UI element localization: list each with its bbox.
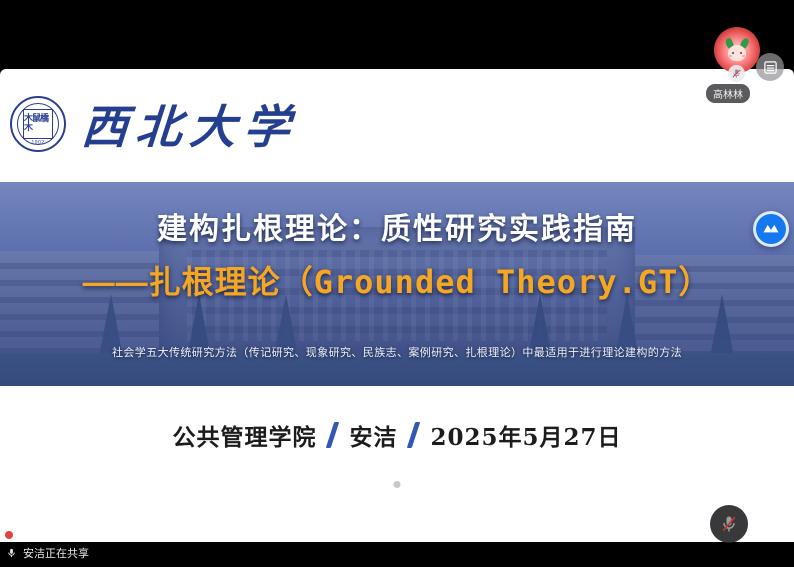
presenter-department: 公共管理学院 <box>172 418 316 452</box>
share-status-text: 安洁正在共享 <box>23 545 89 561</box>
presenter-date: 2025年5月27日 <box>430 418 621 452</box>
mic-toggle-button[interactable] <box>710 505 748 543</box>
mic-icon <box>6 547 17 559</box>
presenter-line: 公共管理学院 安洁 2025年5月27日 <box>0 418 794 452</box>
university-seal-icon: 木鼠橋木 1902 <box>10 96 66 152</box>
university-seal-year: 1902 <box>12 140 64 146</box>
slide-banner: 建构扎根理论：质性研究实践指南 ——扎根理论（Grounded Theory.G… <box>0 182 794 386</box>
university-branding: 木鼠橋木 1902 西北大学 <box>10 91 298 157</box>
university-name: 西北大学 <box>80 91 301 157</box>
bunny-eye-icon <box>732 52 734 54</box>
presenter-separator-icon <box>326 422 339 448</box>
recording-dot-icon <box>5 531 13 539</box>
bunny-eye-icon <box>740 52 742 54</box>
bunny-head-icon <box>728 45 746 61</box>
slide-subtitle: 社会学五大传统研究方法（传记研究、现象研究、民族志、案例研究、扎根理论）中最适用… <box>0 344 794 360</box>
university-seal-inner-text: 木鼠橋木 <box>23 109 53 139</box>
slide-title-line2-en: （Grounded Theory.GT） <box>281 263 712 301</box>
mic-muted-icon <box>719 514 739 534</box>
bunny-cheek-icon <box>729 55 732 57</box>
meeting-screen-share-view: 木鼠橋木 1902 西北大学 建构扎根理论：质性研究实践指南 ——扎根理论（Gr… <box>0 0 794 567</box>
slide-title-line1: 建构扎根理论：质性研究实践指南 <box>157 204 637 248</box>
participant-name-label: 高林林 <box>706 84 750 103</box>
slide-title-line2: ——扎根理论（Grounded Theory.GT） <box>83 257 712 303</box>
slide-page-indicator-dot <box>394 481 401 488</box>
shared-slide-surface[interactable]: 木鼠橋木 1902 西北大学 建构扎根理论：质性研究实践指南 ——扎根理论（Gr… <box>0 69 794 542</box>
bunny-cheek-icon <box>742 55 745 57</box>
mic-muted-icon <box>728 65 745 82</box>
presenter-speaker: 安洁 <box>349 418 397 452</box>
slide-title-line2-cn: ——扎根理论 <box>83 264 281 300</box>
tencent-meeting-logo-icon[interactable] <box>753 211 789 247</box>
presenter-separator-icon <box>407 422 420 448</box>
participant-tile[interactable]: 高林林 <box>700 27 784 103</box>
list-icon[interactable] <box>756 53 784 81</box>
share-status-bar: 安洁正在共享 <box>6 545 89 561</box>
bunny-avatar-icon <box>724 38 750 62</box>
